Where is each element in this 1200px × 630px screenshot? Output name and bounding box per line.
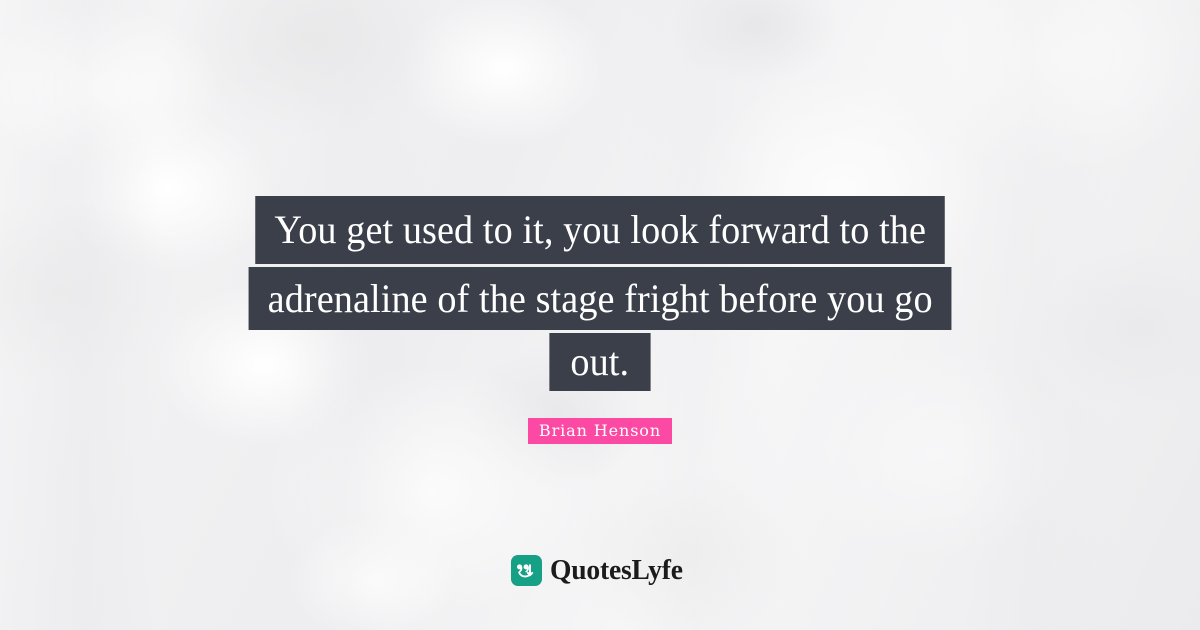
quote-mark-icon bbox=[511, 555, 542, 586]
quote-block: You get used to it, you look forward to … bbox=[0, 196, 1200, 394]
quote-line: You get used to it, you look forward to … bbox=[0, 196, 1200, 264]
brand-logo[interactable]: QuotesLyfe bbox=[0, 555, 1200, 586]
brand-name: QuotesLyfe bbox=[550, 555, 683, 586]
quote-line: adrenaline of the stage fright before yo… bbox=[0, 267, 1200, 330]
quote-card: You get used to it, you look forward to … bbox=[0, 0, 1200, 630]
card-content: You get used to it, you look forward to … bbox=[0, 0, 1200, 630]
quote-line-text: adrenaline of the stage fright before yo… bbox=[248, 267, 951, 330]
quote-line-text: You get used to it, you look forward to … bbox=[255, 196, 945, 264]
author-name: Brian Henson bbox=[528, 418, 672, 444]
author-attribution: Brian Henson bbox=[0, 418, 1200, 444]
quote-line-text: out. bbox=[550, 333, 651, 391]
quote-line: out. bbox=[0, 333, 1200, 391]
